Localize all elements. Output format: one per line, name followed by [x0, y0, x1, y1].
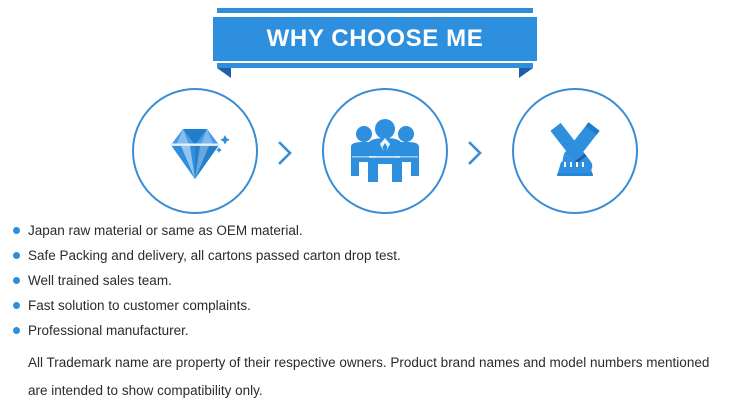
ribbon-body: WHY CHOOSE ME	[213, 17, 537, 61]
list-item: Safe Packing and delivery, all cartons p…	[0, 245, 750, 270]
ribbon-top-bar	[217, 8, 533, 13]
list-item: Fast solution to customer complaints.	[0, 295, 750, 320]
list-item-label: Professional manufacturer.	[28, 320, 189, 341]
feature-bullet-list: Japan raw material or same as OEM materi…	[0, 220, 750, 345]
design-tools-icon	[537, 118, 613, 184]
ribbon-fold-left	[217, 68, 231, 78]
ribbon-banner: WHY CHOOSE ME	[213, 8, 537, 76]
bullet-dot-icon	[13, 227, 20, 234]
list-item-label: Well trained sales team.	[28, 270, 172, 291]
list-item: Japan raw material or same as OEM materi…	[0, 220, 750, 245]
list-item-label: Japan raw material or same as OEM materi…	[28, 220, 303, 241]
bullet-dot-icon	[13, 302, 20, 309]
chevron-right-icon-1	[272, 138, 298, 168]
list-item-label: Fast solution to customer complaints.	[28, 295, 251, 316]
list-item: Professional manufacturer.	[0, 320, 750, 345]
diamond-icon	[157, 119, 233, 183]
feature-circle-diamond	[132, 88, 258, 214]
bullet-dot-icon	[13, 252, 20, 259]
bullet-dot-icon	[13, 277, 20, 284]
ribbon-fold-right	[519, 68, 533, 78]
why-choose-me-banner-page: WHY CHOOSE ME	[0, 0, 750, 411]
page-title: WHY CHOOSE ME	[267, 27, 484, 51]
feature-circle-team	[322, 88, 448, 214]
list-item-label: Safe Packing and delivery, all cartons p…	[28, 245, 401, 266]
chevron-right-icon-2	[462, 138, 488, 168]
ribbon-bottom-bar	[217, 63, 533, 68]
feature-circle-design-tools	[512, 88, 638, 214]
team-icon	[347, 116, 423, 186]
bullet-dot-icon	[13, 327, 20, 334]
list-item: Well trained sales team.	[0, 270, 750, 295]
disclaimer-text: All Trademark name are property of their…	[28, 349, 728, 405]
feature-icon-row	[0, 88, 750, 222]
